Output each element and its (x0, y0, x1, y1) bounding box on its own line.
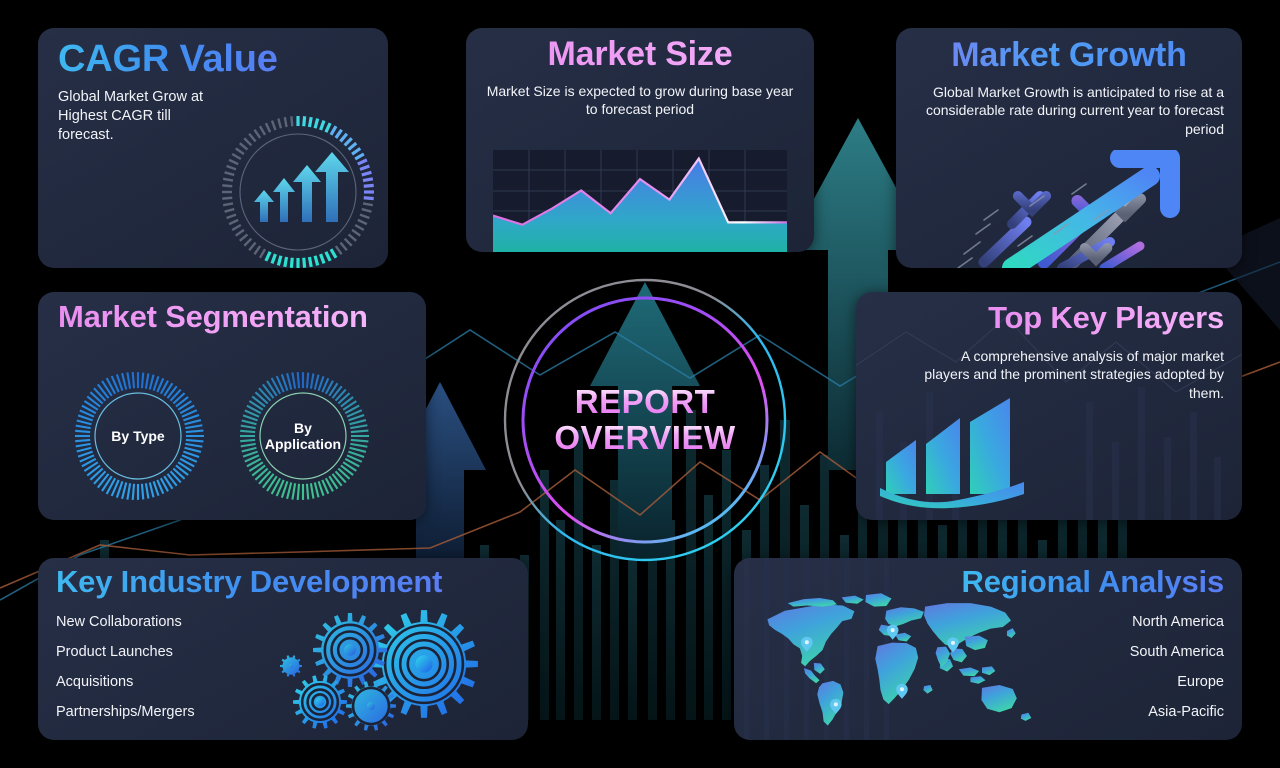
donut-chart-by-type-icon[interactable]: By Type (68, 366, 208, 506)
donut-chart-by-application-icon[interactable]: ByApplication (233, 366, 373, 506)
donut-label-by-type: By Type (68, 366, 208, 506)
panel-market-segmentation[interactable]: Market Segmentation By Type ByApplicatio… (38, 292, 426, 520)
market-growth-description: Global Market Growth is anticipated to r… (910, 83, 1224, 138)
center-line-2: OVERVIEW (554, 420, 735, 456)
gears-icon (278, 602, 508, 732)
panel-market-size[interactable]: Market Size Market Size is expected to g… (466, 28, 814, 252)
panel-top-key-players[interactable]: Top Key Players A comprehensive analysis… (856, 292, 1242, 520)
cagr-arrow-bars (254, 152, 349, 222)
cagr-title: CAGR Value (58, 40, 278, 80)
market-segmentation-title: Market Segmentation (58, 301, 368, 334)
key-industry-item: New Collaborations (56, 614, 195, 630)
bar-chart-icon (878, 396, 1038, 512)
infographic-canvas: CAGR Value Global Market Grow at Highest… (0, 0, 1280, 768)
regional-analysis-list: North AmericaSouth AmericaEuropeAsia-Pac… (1130, 614, 1224, 734)
center-line-1: REPORT (575, 384, 716, 420)
regional-analysis-item: Asia-Pacific (1130, 704, 1224, 720)
donut-label-by-application: ByApplication (233, 366, 373, 506)
growth-arrows-gauge-icon (216, 110, 380, 268)
rising-arrows-icon (954, 150, 1204, 268)
regional-analysis-item: South America (1130, 644, 1224, 660)
key-industry-item: Partnerships/Mergers (56, 704, 195, 720)
regional-analysis-item: North America (1130, 614, 1224, 630)
cagr-description: Global Market Grow at Highest CAGR till … (58, 88, 208, 145)
panel-market-growth[interactable]: Market Growth Global Market Growth is an… (896, 28, 1242, 268)
panel-key-industry-development[interactable]: Key Industry Development New Collaborati… (38, 558, 528, 740)
top-key-players-title: Top Key Players (988, 302, 1224, 335)
area-chart-icon (493, 150, 787, 252)
center-report-overview[interactable]: REPORT OVERVIEW (500, 275, 790, 565)
donut-label-text: By Type (111, 428, 164, 444)
panel-cagr-value[interactable]: CAGR Value Global Market Grow at Highest… (38, 28, 388, 268)
regional-analysis-item: Europe (1130, 674, 1224, 690)
donut-label-text: By (294, 420, 312, 436)
world-map-icon (750, 590, 1040, 730)
top-key-players-description: A comprehensive analysis of major market… (914, 347, 1224, 402)
key-industry-development-title: Key Industry Development (56, 566, 442, 599)
center-caption: REPORT OVERVIEW (500, 275, 790, 565)
key-industry-item: Product Launches (56, 644, 195, 660)
market-size-description: Market Size is expected to grow during b… (480, 82, 800, 119)
key-industry-development-list: New CollaborationsProduct LaunchesAcquis… (56, 614, 195, 734)
panel-regional-analysis[interactable]: Regional Analysis North AmericaSouth Ame… (734, 558, 1242, 740)
market-growth-title: Market Growth (896, 38, 1242, 74)
market-size-title: Market Size (466, 37, 814, 73)
key-industry-item: Acquisitions (56, 674, 195, 690)
donut-label-text: Application (265, 436, 341, 452)
